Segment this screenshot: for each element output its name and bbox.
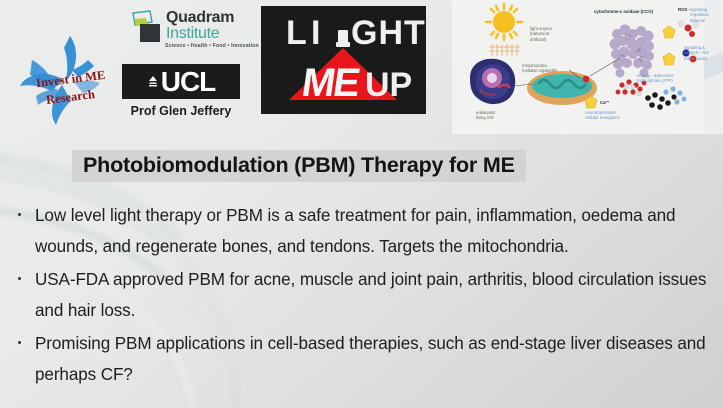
invest-in-me-logo: Invest in ME Research <box>12 30 122 130</box>
light-me-up-logo: L I GHT ME UP <box>261 6 426 114</box>
ucl-crest-icon <box>147 74 159 90</box>
diagram-label-nitric-oxide: signaling & catalyst - NO (nitric oxide) <box>684 45 709 61</box>
bullet-dot-icon <box>18 213 21 216</box>
diagram-label-ros-description: signaling regulation defense <box>690 7 709 23</box>
bullet-text: Promising PBM applications in cell-based… <box>35 334 706 384</box>
svg-text:ME: ME <box>299 60 362 105</box>
bullet-dot-icon <box>18 341 21 344</box>
ucl-text: UCL <box>161 68 216 96</box>
ucl-caption: Prof Glen Jeffery <box>122 104 240 118</box>
svg-text:L: L <box>286 14 309 52</box>
presentation-slide: Invest in ME Research Quadram Institute … <box>0 0 723 408</box>
light-me-up-graphic-icon: L I GHT ME UP <box>261 6 426 114</box>
quadram-institute-logo: Quadram Institute Science • Health • Foo… <box>128 8 240 56</box>
diagram-label-calcium: Ca²⁺ <box>600 100 609 105</box>
svg-text:UP: UP <box>365 66 412 104</box>
ucl-logo: UCL <box>122 64 240 99</box>
quadram-tagline: Science • Health • Food • Innovation <box>165 43 259 49</box>
bullet-item: Low level light therapy or PBM is a safe… <box>14 200 710 262</box>
quadram-mark-icon <box>128 10 162 44</box>
diagram-label-mitochondria: mitochondria (cellular organelle) <box>522 63 557 74</box>
svg-text:I: I <box>311 14 322 52</box>
slide-title: Photobiomodulation (PBM) Therapy for ME <box>72 150 526 182</box>
diagram-label-light-source: light source (natural or artificial) <box>530 26 552 42</box>
bullet-text: USA-FDA approved PBM for acne, muscle an… <box>35 270 706 320</box>
diagram-label-ros: ROS - <box>678 7 690 12</box>
diagram-label-calcium-description: neurotransmitter cellular energetics <box>585 110 620 121</box>
diagram-label-atp: energy - adenosine triphosphate (ATP) <box>637 73 674 84</box>
bullet-dot-icon <box>18 277 21 280</box>
svg-text:GHT: GHT <box>351 14 426 52</box>
bullet-item: USA-FDA approved PBM for acne, muscle an… <box>14 264 710 326</box>
diagram-source-url: http://www.appliedbiophotonics.com <box>715 0 722 2</box>
bullet-list: Low level light therapy or PBM is a safe… <box>14 200 710 392</box>
photobiomodulation-mechanism-diagram: light source (natural or artificial) cyt… <box>452 0 723 134</box>
quadram-name-line2: Institute <box>166 25 219 43</box>
diagram-label-eukaryotic-cell: eukaryotic living cell <box>476 110 496 121</box>
bullet-text: Low level light therapy or PBM is a safe… <box>35 206 675 256</box>
diagram-label-cytochrome: cytochrome-c oxidase (CCO) <box>594 9 653 14</box>
bullet-item: Promising PBM applications in cell-based… <box>14 328 710 390</box>
logo-band: Invest in ME Research Quadram Institute … <box>0 0 723 138</box>
